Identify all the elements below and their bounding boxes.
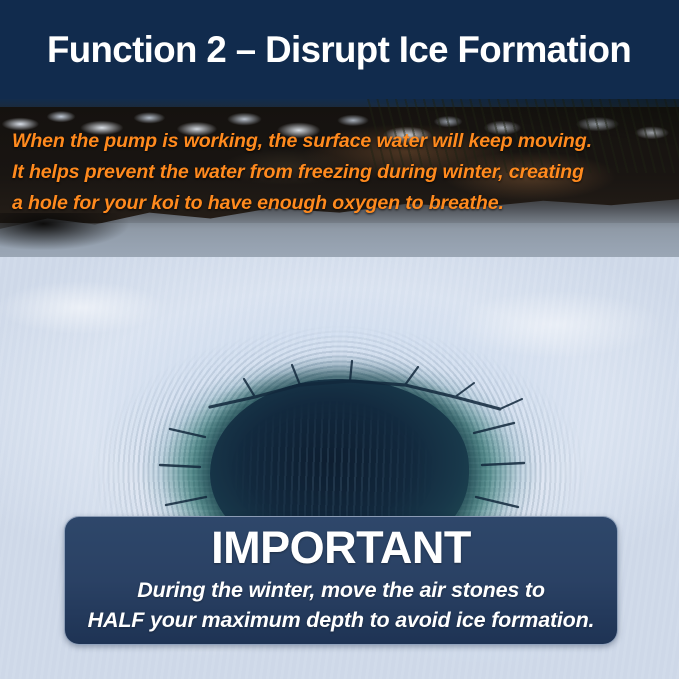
intro-paragraph: When the pump is working, the surface wa… (12, 126, 672, 219)
dark-vignette (0, 213, 149, 257)
intro-line-2: It helps prevent the water from freezing… (12, 157, 672, 188)
callout-line-1: During the winter, move the air stones t… (88, 575, 595, 605)
important-callout: IMPORTANT During the winter, move the ai… (64, 516, 618, 645)
page-title: Function 2 – Disrupt Ice Formation (47, 31, 631, 68)
infographic-card: Function 2 – Disrupt Ice Formation When … (0, 0, 679, 679)
intro-line-1: When the pump is working, the surface wa… (12, 126, 672, 157)
callout-title: IMPORTANT (211, 522, 471, 574)
callout-body: During the winter, move the air stones t… (88, 575, 595, 635)
callout-line-2: HALF your maximum depth to avoid ice for… (88, 605, 595, 635)
header-bar: Function 2 – Disrupt Ice Formation (0, 0, 679, 99)
intro-line-3: a hole for your koi to have enough oxyge… (12, 188, 672, 219)
